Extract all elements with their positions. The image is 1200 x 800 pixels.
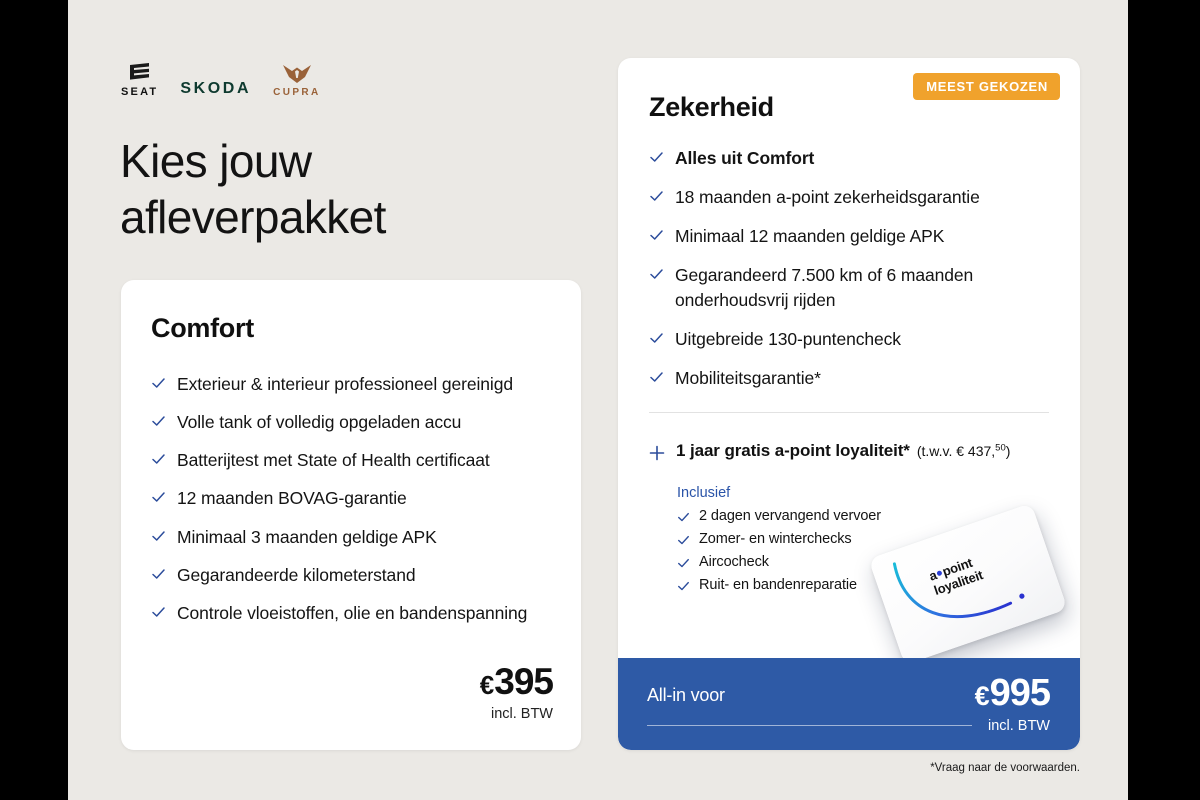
feature-text: Controle vloeistoffen, olie en bandenspa… [177,601,527,625]
slide-canvas: SEAT SKODA CUPRA Kies jouw afleverpakket… [68,0,1128,800]
feature-text: Alles uit Comfort [675,146,814,170]
list-item: Gegarandeerd 7.500 km of 6 maanden onder… [649,263,1049,311]
feature-text: Gegarandeerd 7.500 km of 6 maanden onder… [675,263,1049,311]
inclusief-text: Ruit- en bandenreparatie [699,577,857,593]
list-item: Gegarandeerde kilometerstand [151,563,551,587]
seat-wordmark: SEAT [121,86,158,98]
list-item: Minimaal 3 maanden geldige APK [151,525,551,549]
zekerheid-price: €995 [975,674,1050,712]
currency-symbol: € [480,670,493,700]
feature-text: Batterijtest met State of Health certifi… [177,448,490,472]
inclusief-label: Inclusief [677,485,1007,501]
check-icon [649,228,664,243]
check-icon [151,490,166,505]
list-item: Alles uit Comfort [649,146,1049,170]
check-icon [677,534,690,547]
inclusief-text: Zomer- en winterchecks [699,531,852,547]
list-item: Exterieur & interieur professioneel gere… [151,372,551,396]
inclusief-text: 2 dagen vervangend vervoer [699,508,881,524]
cupra-logo-icon: CUPRA [273,64,321,98]
page-title: Kies jouw afleverpakket [120,133,560,245]
feature-text: Volle tank of volledig opgeladen accu [177,410,461,434]
zekerheid-title: Zekerheid [649,92,774,123]
list-item: Mobiliteitsgarantie* [649,366,1049,390]
package-card-comfort[interactable]: Comfort Exterieur & interieur profession… [121,280,581,750]
check-icon [151,376,166,391]
section-divider [649,412,1049,413]
feature-text: Exterieur & interieur professioneel gere… [177,372,513,396]
loyalty-bonus-title: 1 jaar gratis a-point loyaliteit* [676,441,910,460]
seat-mark-icon [128,62,152,84]
loyalty-bonus-row: 1 jaar gratis a-point loyaliteit*(t.w.v.… [649,441,1054,461]
check-icon [151,567,166,582]
check-icon [151,414,166,429]
brand-logo-bar: SEAT SKODA CUPRA [121,52,321,98]
feature-text: Minimaal 12 maanden geldige APK [675,224,944,248]
check-icon [677,580,690,593]
feature-text: Minimaal 3 maanden geldige APK [177,525,437,549]
feature-text: Gegarandeerde kilometerstand [177,563,415,587]
price-amount: 395 [494,661,553,702]
feature-text: 18 maanden a-point zekerheidsgarantie [675,185,980,209]
cupra-wordmark: CUPRA [273,87,321,98]
plus-icon [649,445,665,461]
list-item: Volle tank of volledig opgeladen accu [151,410,551,434]
skoda-wordmark: SKODA [180,80,251,98]
feature-text: Mobiliteitsgarantie* [675,366,821,390]
loyalty-bonus-value: (t.w.v. € 437,50) [917,443,1011,459]
list-item: 2 dagen vervangend vervoer [677,508,1007,524]
comfort-price: €395 [480,663,553,700]
check-icon [649,370,664,385]
feature-text: Uitgebreide 130-puntencheck [675,327,901,351]
allin-label: All-in voor [647,685,725,706]
cupra-mark-icon [282,64,312,84]
screenshot-stage: SEAT SKODA CUPRA Kies jouw afleverpakket… [0,0,1200,800]
check-icon [151,529,166,544]
zekerheid-price-vat: incl. BTW [988,718,1050,734]
footer-rule [647,725,972,726]
list-item: 12 maanden BOVAG-garantie [151,486,551,510]
currency-symbol: € [975,681,989,711]
list-item: Controle vloeistoffen, olie en bandenspa… [151,601,551,625]
zekerheid-price-footer: All-in voor €995 incl. BTW [618,658,1080,750]
bonus-value-cents: 50 [995,442,1006,453]
package-card-zekerheid[interactable]: MEEST GEKOZEN Zekerheid Alles uit Comfor… [618,58,1080,750]
price-amount: 995 [990,672,1050,714]
check-icon [649,267,664,282]
check-icon [677,511,690,524]
check-icon [649,150,664,165]
skoda-logo-icon: SKODA [180,80,251,98]
check-icon [649,189,664,204]
bonus-value-prefix: (t.w.v. € 437, [917,443,995,459]
comfort-feature-list: Exterieur & interieur professioneel gere… [151,372,551,639]
check-icon [649,331,664,346]
zekerheid-feature-list: Alles uit Comfort 18 maanden a-point zek… [649,146,1049,405]
list-item: 18 maanden a-point zekerheidsgarantie [649,185,1049,209]
comfort-price-block: €395 incl. BTW [480,663,553,722]
list-item: Batterijtest met State of Health certifi… [151,448,551,472]
bonus-value-suffix: ) [1006,443,1011,459]
inclusief-text: Aircocheck [699,554,769,570]
feature-text: 12 maanden BOVAG-garantie [177,486,407,510]
comfort-price-vat: incl. BTW [480,706,553,722]
check-icon [151,605,166,620]
seat-logo-icon: SEAT [121,62,158,98]
check-icon [151,452,166,467]
list-item: Minimaal 12 maanden geldige APK [649,224,1049,248]
comfort-title: Comfort [151,313,254,344]
status-badge: MEEST GEKOZEN [913,73,1060,100]
check-icon [677,557,690,570]
list-item: Uitgebreide 130-puntencheck [649,327,1049,351]
footnote-text: *Vraag naar de voorwaarden. [930,762,1080,774]
